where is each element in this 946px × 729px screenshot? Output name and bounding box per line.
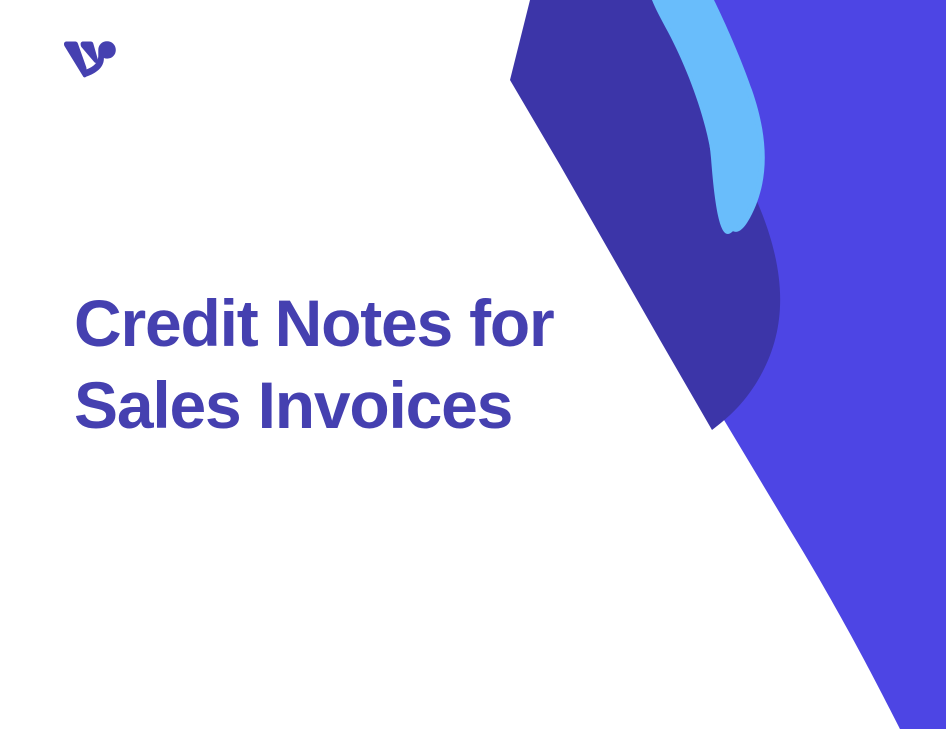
- page-title-line-2: Sales Invoices: [74, 364, 594, 446]
- bright-purple-wedge: [660, 0, 946, 729]
- page-title-line-1: Credit Notes for: [74, 282, 594, 364]
- light-blue-leaf: [652, 0, 765, 232]
- bright-purple-sweep: [575, 0, 946, 729]
- page-title: Credit Notes for Sales Invoices: [74, 282, 594, 446]
- title-slide: Credit Notes for Sales Invoices: [0, 0, 946, 729]
- light-blue-leaf-body: [652, 0, 759, 234]
- w-monogram-logo-icon[interactable]: [62, 41, 118, 87]
